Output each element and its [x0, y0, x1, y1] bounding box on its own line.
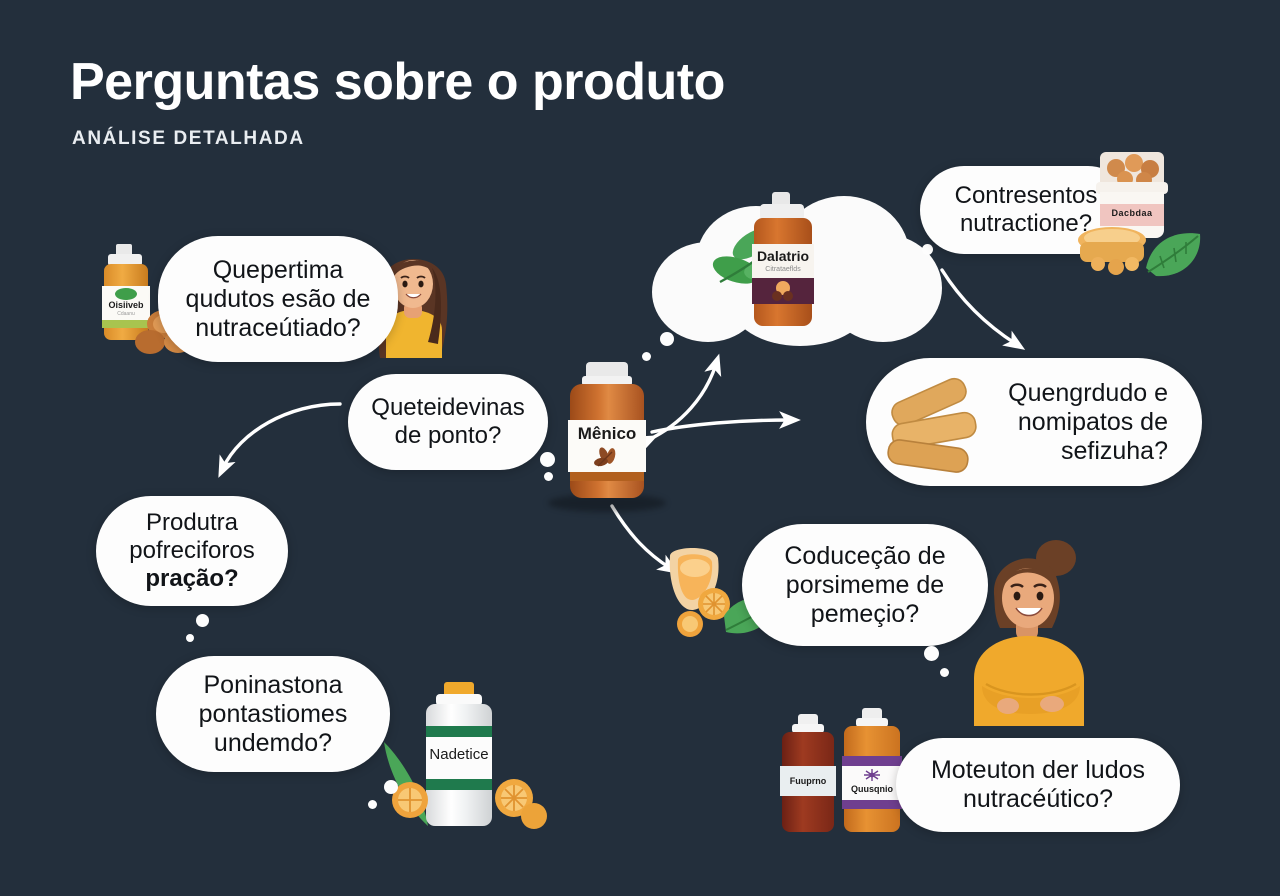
bottle-pair-right-label: Quusqnio [842, 784, 902, 794]
arrow-b2-to-b3 [223, 404, 340, 468]
bubble-line: Queteidevinas [371, 394, 524, 422]
bubble-line: nutracéútico? [963, 785, 1113, 814]
bubble-tail-dot [544, 472, 553, 481]
thought-dot [922, 244, 933, 255]
bubble-tail-dot [540, 452, 555, 467]
arrow-center-to-b7 [612, 506, 670, 568]
herb-icon [593, 446, 616, 467]
bottle-pair-left-label: Fuuprno [780, 776, 836, 786]
question-bubble-2[interactable]: Queteidevinas de ponto? [348, 374, 548, 470]
bubble-line: pofreciforos [129, 537, 254, 565]
bubble-tail-dot [924, 646, 939, 661]
bubble-line: sefizuha? [1061, 437, 1168, 466]
bubble-tail-dot [384, 780, 398, 794]
bubble-line: Contresentos [955, 182, 1098, 210]
bubble-line: de ponto? [395, 422, 502, 450]
jar-label: Dacbdaa [1100, 208, 1164, 218]
bubble-tail-dot [196, 614, 209, 627]
bubble-line: qudutos esão de [186, 285, 371, 314]
bubble-line: Produtra [146, 509, 238, 537]
question-bubble-3[interactable]: Produtra pofreciforos pração? [96, 496, 288, 606]
bubble-tail-dot [940, 668, 949, 677]
bubble-line: Coduceção de [784, 542, 945, 571]
bubble-tail-dot [368, 800, 377, 809]
bubble-line: pração? [145, 565, 238, 593]
thought-dot [642, 352, 651, 361]
bubble-line: nutraceútiado? [195, 314, 360, 343]
citrus-bowl-icon [670, 548, 730, 637]
question-bubble-4[interactable]: Poninastona pontastiomes undemdo? [156, 656, 390, 772]
bubble-line: Poninastona [203, 671, 342, 700]
bubble-line: pemeçio? [811, 600, 919, 629]
bubble-line: undemdo? [214, 729, 332, 758]
question-bubble-7[interactable]: Coduceção de porsimeme de pemeçio? [742, 524, 988, 646]
bubble-line: Quengrdudo e [1008, 379, 1168, 408]
bubble-line: nomipatos de [1018, 408, 1168, 437]
cookie-stick-icon [887, 375, 978, 473]
star-herb-icon [864, 769, 880, 781]
cloud-bottle-label: Dalatrio [752, 248, 814, 264]
thought-dot [660, 332, 674, 346]
bottle-pair-illustration: Fuuprno Quusqnio [776, 708, 916, 836]
bubble-line: Moteuton der ludos [931, 756, 1145, 785]
bubble-line: Quepertima [213, 256, 344, 285]
bubble-line: nutractione? [960, 210, 1092, 238]
white-bottle-illustration: Nadetice [382, 682, 572, 838]
question-bubble-8[interactable]: Moteuton der ludos nutracéútico? [896, 738, 1180, 832]
bubble-line: pontastiomes [199, 700, 348, 729]
center-bottle-label: Mênico [568, 424, 646, 444]
cloud-bottle-illustration: Dalatrio Citrataeflds [680, 186, 880, 336]
white-bottle-label: Nadetice [426, 746, 492, 763]
jar-illustration: Dacbdaa [1080, 146, 1206, 278]
arrow-center-to-cloud [648, 364, 716, 440]
arrow-b5-to-b6 [942, 270, 1016, 344]
bubble-tail-dot [186, 634, 194, 642]
question-bubble-1[interactable]: Quepertima qudutos esão de nutraceútiado… [158, 236, 398, 362]
center-bottle-illustration: Mênico [560, 362, 654, 502]
bubble-line: porsimeme de [786, 571, 944, 600]
cloud-bottle-sublabel: Citrataeflds [752, 266, 814, 273]
pastry-illustration [882, 372, 992, 478]
infographic-canvas: Perguntas sobre o produto ANÁLISE DETALH… [0, 0, 1280, 896]
